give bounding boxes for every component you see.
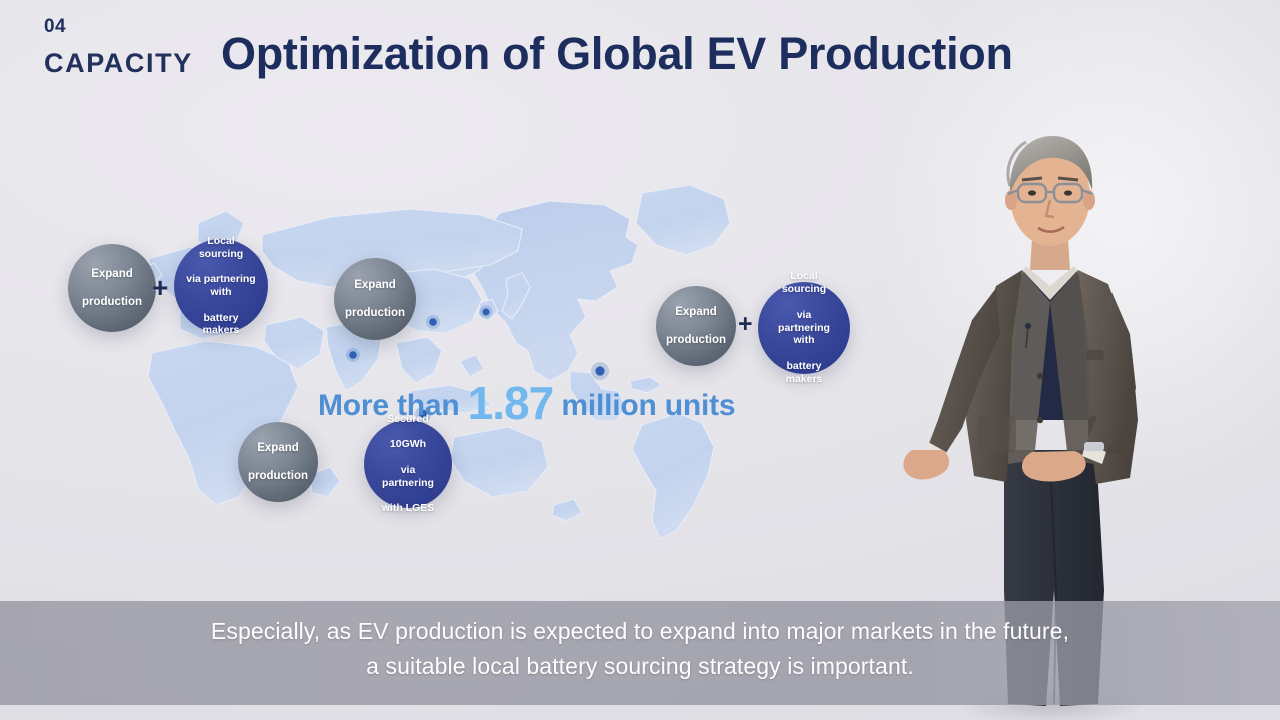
- slide-header: 04 CAPACITY Optimization of Global EV Pr…: [0, 0, 1280, 110]
- plus-icon-europe: +: [152, 274, 168, 302]
- section-number: 04: [44, 16, 66, 38]
- plus-icon-north-america: +: [738, 312, 753, 337]
- bubble-asia-expand-production[interactable]: Expandproduction: [334, 258, 416, 340]
- bubble-label: Expandproduction: [236, 441, 320, 483]
- jacket-pocket-left: [978, 416, 1016, 452]
- bubble-southeast-asia-secured-lges[interactable]: Secured10GWhvia partneringwith LGES: [364, 420, 452, 508]
- wristwatch: [1084, 442, 1104, 451]
- bubble-southeast-asia-expand-production[interactable]: Expandproduction: [238, 422, 318, 502]
- bubble-europe-expand-production[interactable]: Expandproduction: [68, 244, 156, 332]
- bubble-label: Secured10GWhvia partneringwith LGES: [364, 413, 452, 515]
- jacket-button: [1037, 373, 1043, 379]
- bubble-label: Expandproduction: [70, 267, 154, 309]
- bubble-north-america-expand-production[interactable]: Expandproduction: [656, 286, 736, 366]
- eye-left: [1028, 190, 1036, 195]
- eye-right: [1064, 190, 1072, 195]
- bubble-label: Expandproduction: [654, 305, 738, 347]
- jacket-button: [1037, 417, 1043, 423]
- caption-line-2: a suitable local battery sourcing strate…: [0, 649, 1280, 684]
- bubble-label: Local sourcingvia partnering withbattery…: [174, 235, 268, 337]
- page-title: Optimization of Global EV Production: [221, 28, 1013, 80]
- eyebrow-right: [1058, 178, 1078, 180]
- headline-suffix: million units: [553, 389, 735, 422]
- section-label: CAPACITY: [44, 48, 193, 79]
- china-marker: [426, 315, 440, 329]
- headline-figure: 1.87: [468, 377, 554, 429]
- bubble-north-america-local-sourcing[interactable]: Local sourcingvia partnering withbattery…: [758, 282, 850, 374]
- bubble-europe-local-sourcing[interactable]: Local sourcingvia partnering withbattery…: [174, 239, 268, 333]
- bubble-label: Expandproduction: [333, 278, 417, 320]
- slide-stage: 04 CAPACITY Optimization of Global EV Pr…: [0, 0, 1280, 720]
- bubble-label: Local sourcingvia partnering withbattery…: [758, 270, 850, 385]
- eyebrow-left: [1022, 178, 1042, 180]
- subtitle-caption: Especially, as EV production is expected…: [0, 614, 1280, 684]
- caption-line-1: Especially, as EV production is expected…: [211, 618, 1069, 644]
- korea-marker: [480, 306, 493, 319]
- india-marker: [346, 348, 360, 362]
- open-hand: [903, 450, 949, 479]
